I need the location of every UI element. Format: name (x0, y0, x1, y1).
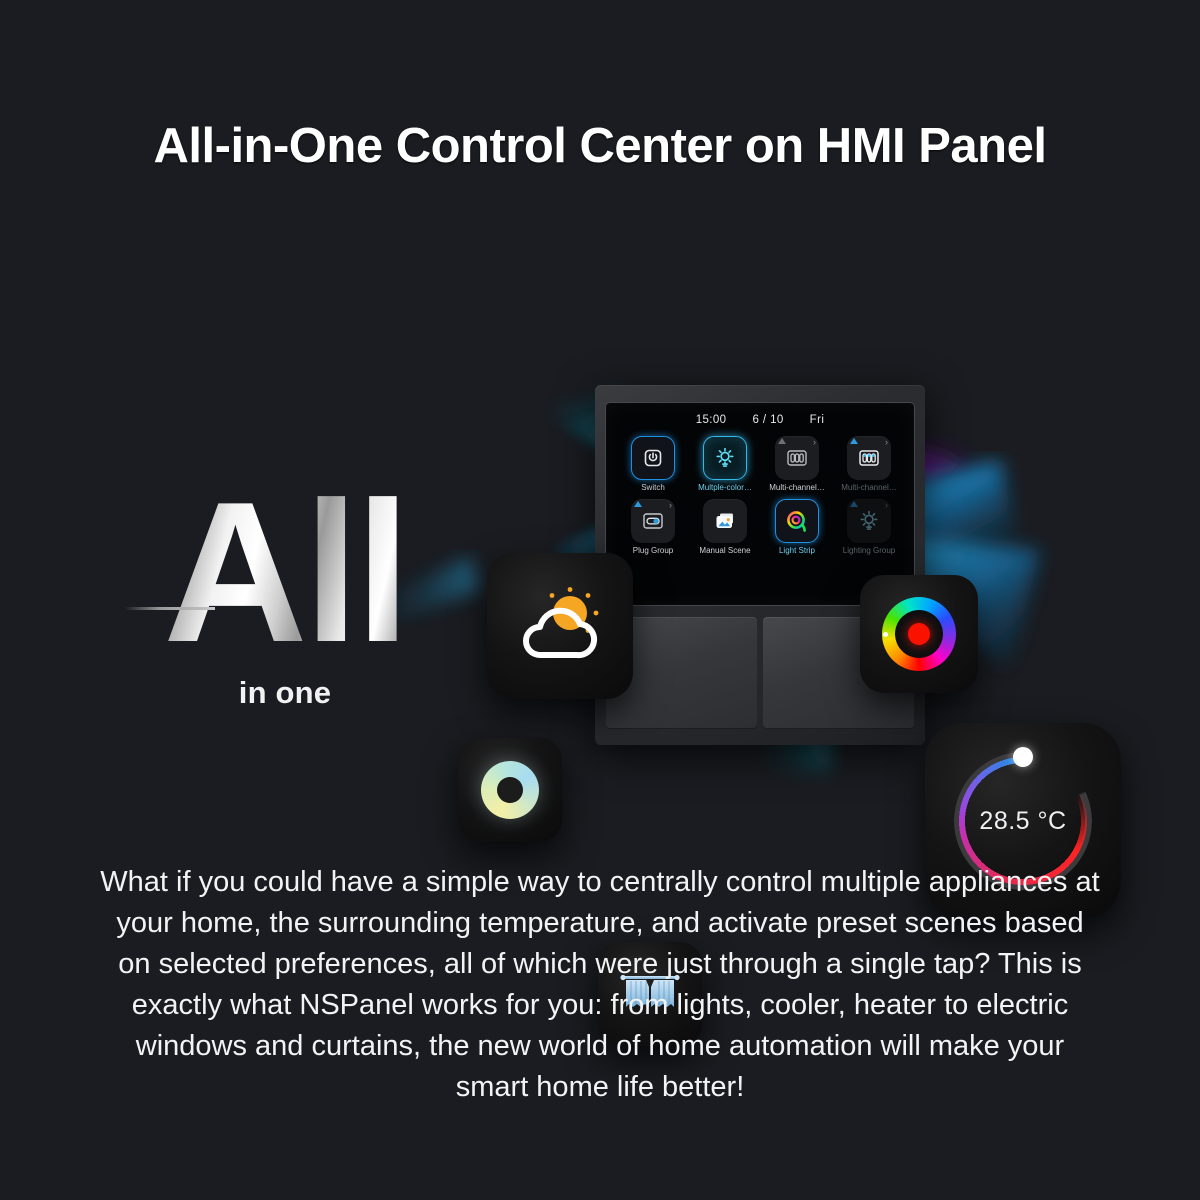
color-temperature-ring-icon[interactable] (481, 761, 539, 819)
color-wheel-icon[interactable] (882, 597, 956, 671)
tile-label: Manual Scene (692, 546, 758, 555)
status-date: 6 / 10 (752, 414, 783, 426)
multi-switch-icon (784, 446, 810, 470)
tile-lighting-group[interactable]: › Lighting Group (836, 499, 902, 555)
color-wheel-marker[interactable] (883, 632, 888, 637)
tile-label: Multple-color… (692, 483, 758, 492)
tile-label: Switch (620, 483, 686, 492)
tile-plug-group[interactable]: › Plug Group (620, 499, 686, 555)
color-wheel-card[interactable] (860, 575, 978, 693)
tile-switch[interactable]: Switch (620, 436, 686, 492)
bulb-tile-icon[interactable] (703, 436, 747, 480)
plug-group-tile-icon[interactable]: › (631, 499, 675, 543)
tile-label: Multi-channel… (764, 483, 830, 492)
manual-scene-tile-icon[interactable] (703, 499, 747, 543)
status-time: 15:00 (696, 414, 727, 426)
color-wheel-selected-color (908, 623, 930, 645)
scene-image-icon (712, 509, 738, 533)
multi-switch-lit-icon (856, 446, 882, 470)
light-strip-icon (783, 507, 811, 535)
lighting-group-tile-icon[interactable]: › (847, 499, 891, 543)
status-bar: 15:00 6 / 10 Fri (606, 414, 914, 426)
page-title: All-in-One Control Center on HMI Panel (0, 118, 1200, 174)
hero-stage: All in one 15:00 6 / 10 Fri (0, 250, 1200, 820)
chevron-right-icon[interactable]: › (885, 438, 888, 447)
plug-toggle-icon (640, 509, 666, 533)
status-weekday: Fri (810, 414, 825, 426)
light-strip-tile-icon[interactable] (775, 499, 819, 543)
tile-multi-channel-1[interactable]: › Multi-channel… (764, 436, 830, 492)
switch-icon (641, 446, 665, 470)
signal-indicator-icon (778, 438, 786, 444)
chevron-right-icon[interactable]: › (669, 501, 672, 510)
logo-strike-line (125, 607, 215, 610)
tile-multi-channel-2[interactable]: › Multi-channel… (836, 436, 902, 492)
switch-tile-icon[interactable] (631, 436, 675, 480)
tile-multiple-color[interactable]: Multple-color… (692, 436, 758, 492)
signal-indicator-icon (634, 501, 642, 507)
all-in-one-logo: All in one (135, 485, 435, 711)
body-paragraph: What if you could have a simple way to c… (100, 862, 1100, 1108)
tile-label: Lighting Group (836, 546, 902, 555)
multi-switch-lit-tile-icon[interactable]: › (847, 436, 891, 480)
device-screen[interactable]: 15:00 6 / 10 Fri Switch (606, 403, 914, 605)
tile-label: Multi-channel… (836, 483, 902, 492)
sun-cloud-icon (512, 583, 608, 669)
chevron-right-icon[interactable]: › (813, 438, 816, 447)
logo-all-text: All (135, 485, 435, 661)
bulb-icon (856, 508, 882, 534)
tile-light-strip[interactable]: Light Strip (764, 499, 830, 555)
signal-indicator-icon (850, 501, 858, 507)
tile-label: Plug Group (620, 546, 686, 555)
bulb-icon (712, 445, 738, 471)
color-temperature-card[interactable] (458, 738, 562, 842)
tile-label: Light Strip (764, 546, 830, 555)
tile-grid: Switch Multple-color… (620, 436, 902, 555)
signal-indicator-icon (850, 438, 858, 444)
chevron-right-icon[interactable]: › (885, 501, 888, 510)
multi-switch-tile-icon[interactable]: › (775, 436, 819, 480)
tile-manual-scene[interactable]: Manual Scene (692, 499, 758, 555)
weather-card[interactable] (487, 553, 633, 699)
